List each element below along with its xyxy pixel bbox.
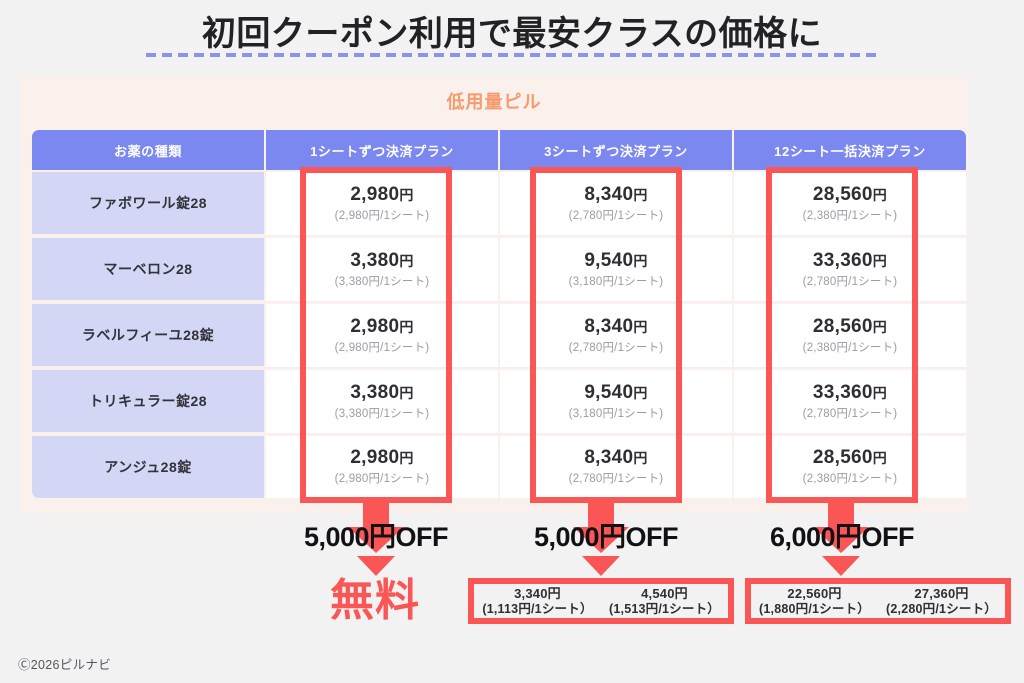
column-header-plan-3-sheet: 3シートずつ決済プラン	[500, 130, 732, 170]
title-dashed-underline	[146, 53, 876, 57]
discount-label-plan-1-sheet: 5,000円OFF	[276, 515, 476, 554]
page-title: 初回クーポン利用で最安クラスの価格に	[0, 12, 1024, 56]
price-cell-plan12: 28,560円 (2,380円/1シート)	[734, 304, 966, 368]
result-cell-right: 4,540円 (1,513円/1シート）	[601, 586, 728, 617]
price-total: 8,340円	[500, 183, 732, 207]
yen-unit: 円	[633, 253, 647, 269]
price-total: 2,980円	[266, 183, 498, 207]
medicine-name-cell: トリキュラー錠28	[32, 370, 264, 434]
medicine-name-cell: アンジュ28錠	[32, 436, 264, 498]
price-per-sheet: (3,180円/1シート)	[500, 405, 732, 423]
price-total: 8,340円	[500, 315, 732, 339]
price-total: 2,980円	[266, 446, 498, 470]
price-cell-plan3: 8,340円 (2,780円/1シート)	[500, 436, 732, 498]
price-total: 33,360円	[734, 249, 966, 273]
price-cell-plan12: 28,560円 (2,380円/1シート)	[734, 436, 966, 498]
price-total: 8,340円	[500, 446, 732, 470]
result-per-sheet: (1,113円/1シート）	[474, 601, 601, 617]
small-down-arrow-plan-3-sheet	[582, 556, 620, 576]
yen-unit: 円	[873, 319, 887, 335]
price-total: 3,380円	[266, 381, 498, 405]
price-table: お薬の種類 1シートずつ決済プラン 3シートずつ決済プラン 12シート一括決済プ…	[30, 128, 968, 500]
price-total: 28,560円	[734, 183, 966, 207]
title-block: 初回クーポン利用で最安クラスの価格に	[0, 12, 1024, 56]
price-table-head: お薬の種類 1シートずつ決済プラン 3シートずつ決済プラン 12シート一括決済プ…	[32, 130, 966, 170]
yen-unit: 円	[399, 385, 413, 401]
pricing-panel: 低用量ピル お薬の種類 1シートずつ決済プラン 3シートずつ決済プラン 12シー…	[20, 75, 968, 513]
price-cell-plan12: 33,360円 (2,780円/1シート)	[734, 370, 966, 434]
yen-unit: 円	[399, 187, 413, 203]
price-total: 28,560円	[734, 315, 966, 339]
table-row: マーベロン28 3,380円 (3,380円/1シート) 9,540円 (3,1…	[32, 238, 966, 302]
price-total: 33,360円	[734, 381, 966, 405]
yen-unit: 円	[873, 187, 887, 203]
price-cell-plan3: 8,340円 (2,780円/1シート)	[500, 172, 732, 236]
medicine-name-cell: ラベルフィーユ28錠	[32, 304, 264, 368]
yen-unit: 円	[399, 253, 413, 269]
table-header-row: お薬の種類 1シートずつ決済プラン 3シートずつ決済プラン 12シート一括決済プ…	[32, 130, 966, 170]
price-per-sheet: (2,980円/1シート)	[266, 470, 498, 488]
price-per-sheet: (2,780円/1シート)	[734, 405, 966, 423]
result-cell-left: 3,340円 (1,113円/1シート）	[474, 586, 601, 617]
result-total: 22,560円	[751, 586, 878, 601]
column-header-plan-12-sheet: 12シート一括決済プラン	[734, 130, 966, 170]
yen-unit: 円	[873, 253, 887, 269]
result-total: 3,340円	[474, 586, 601, 601]
price-per-sheet: (2,380円/1シート)	[734, 339, 966, 357]
result-total: 4,540円	[601, 586, 728, 601]
table-row: アンジュ28錠 2,980円 (2,980円/1シート) 8,340円 (2,7…	[32, 436, 966, 498]
price-cell-plan1: 3,380円 (3,380円/1シート)	[266, 370, 498, 434]
yen-unit: 円	[873, 385, 887, 401]
price-cell-plan12: 28,560円 (2,380円/1シート)	[734, 172, 966, 236]
column-header-medicine: お薬の種類	[32, 130, 264, 170]
discount-label-plan-3-sheet: 5,000円OFF	[506, 515, 706, 554]
price-total: 9,540円	[500, 381, 732, 405]
price-cell-plan1: 2,980円 (2,980円/1シート)	[266, 436, 498, 498]
price-per-sheet: (3,180円/1シート)	[500, 273, 732, 291]
price-per-sheet: (3,380円/1シート)	[266, 273, 498, 291]
copyright-footer: Ⓒ2026ピルナビ	[18, 654, 111, 673]
price-per-sheet: (3,380円/1シート)	[266, 405, 498, 423]
table-row: ラベルフィーユ28錠 2,980円 (2,980円/1シート) 8,340円 (…	[32, 304, 966, 368]
yen-unit: 円	[633, 319, 647, 335]
yen-unit: 円	[399, 450, 413, 466]
price-cell-plan12: 33,360円 (2,780円/1シート)	[734, 238, 966, 302]
price-table-body: ファボワール錠28 2,980円 (2,980円/1シート) 8,340円 (2…	[32, 172, 966, 498]
yen-unit: 円	[633, 450, 647, 466]
price-per-sheet: (2,980円/1シート)	[266, 339, 498, 357]
price-cell-plan1: 2,980円 (2,980円/1シート)	[266, 172, 498, 236]
result-per-sheet: (1,880円/1シート）	[751, 601, 878, 617]
column-header-plan-1-sheet: 1シートずつ決済プラン	[266, 130, 498, 170]
result-per-sheet: (2,280円/1シート）	[878, 601, 1005, 617]
price-total: 3,380円	[266, 249, 498, 273]
price-per-sheet: (2,780円/1シート)	[500, 207, 732, 225]
price-cell-plan1: 2,980円 (2,980円/1シート)	[266, 304, 498, 368]
price-cell-plan3: 9,540円 (3,180円/1シート)	[500, 238, 732, 302]
table-row: トリキュラー錠28 3,380円 (3,380円/1シート) 9,540円 (3…	[32, 370, 966, 434]
yen-unit: 円	[399, 319, 413, 335]
small-down-arrow-plan-1-sheet	[357, 556, 395, 576]
medicine-name-cell: マーベロン28	[32, 238, 264, 302]
panel-heading: 低用量ピル	[20, 88, 968, 114]
price-total: 2,980円	[266, 315, 498, 339]
price-cell-plan3: 8,340円 (2,780円/1シート)	[500, 304, 732, 368]
price-per-sheet: (2,780円/1シート)	[500, 470, 732, 488]
small-down-arrow-plan-12-sheet	[822, 556, 860, 576]
table-row: ファボワール錠28 2,980円 (2,980円/1シート) 8,340円 (2…	[32, 172, 966, 236]
price-per-sheet: (2,380円/1シート)	[734, 207, 966, 225]
price-per-sheet: (2,780円/1シート)	[500, 339, 732, 357]
price-per-sheet: (2,980円/1シート)	[266, 207, 498, 225]
result-total: 27,360円	[878, 586, 1005, 601]
yen-unit: 円	[873, 450, 887, 466]
result-box-plan-12-sheet: 22,560円 (1,880円/1シート） 27,360円 (2,280円/1シ…	[745, 578, 1011, 624]
result-box-plan-3-sheet: 3,340円 (1,113円/1シート） 4,540円 (1,513円/1シート…	[468, 578, 734, 624]
result-cell-right: 27,360円 (2,280円/1シート）	[878, 586, 1005, 617]
result-cell-left: 22,560円 (1,880円/1シート）	[751, 586, 878, 617]
price-total: 9,540円	[500, 249, 732, 273]
medicine-name-cell: ファボワール錠28	[32, 172, 264, 236]
price-cell-plan3: 9,540円 (3,180円/1シート)	[500, 370, 732, 434]
price-per-sheet: (2,380円/1シート)	[734, 470, 966, 488]
result-per-sheet: (1,513円/1シート）	[601, 601, 728, 617]
yen-unit: 円	[633, 385, 647, 401]
price-per-sheet: (2,780円/1シート)	[734, 273, 966, 291]
result-free-plan-1-sheet: 無料	[290, 578, 460, 624]
discount-label-plan-12-sheet: 6,000円OFF	[742, 515, 942, 554]
price-total: 28,560円	[734, 446, 966, 470]
price-cell-plan1: 3,380円 (3,380円/1シート)	[266, 238, 498, 302]
yen-unit: 円	[633, 187, 647, 203]
